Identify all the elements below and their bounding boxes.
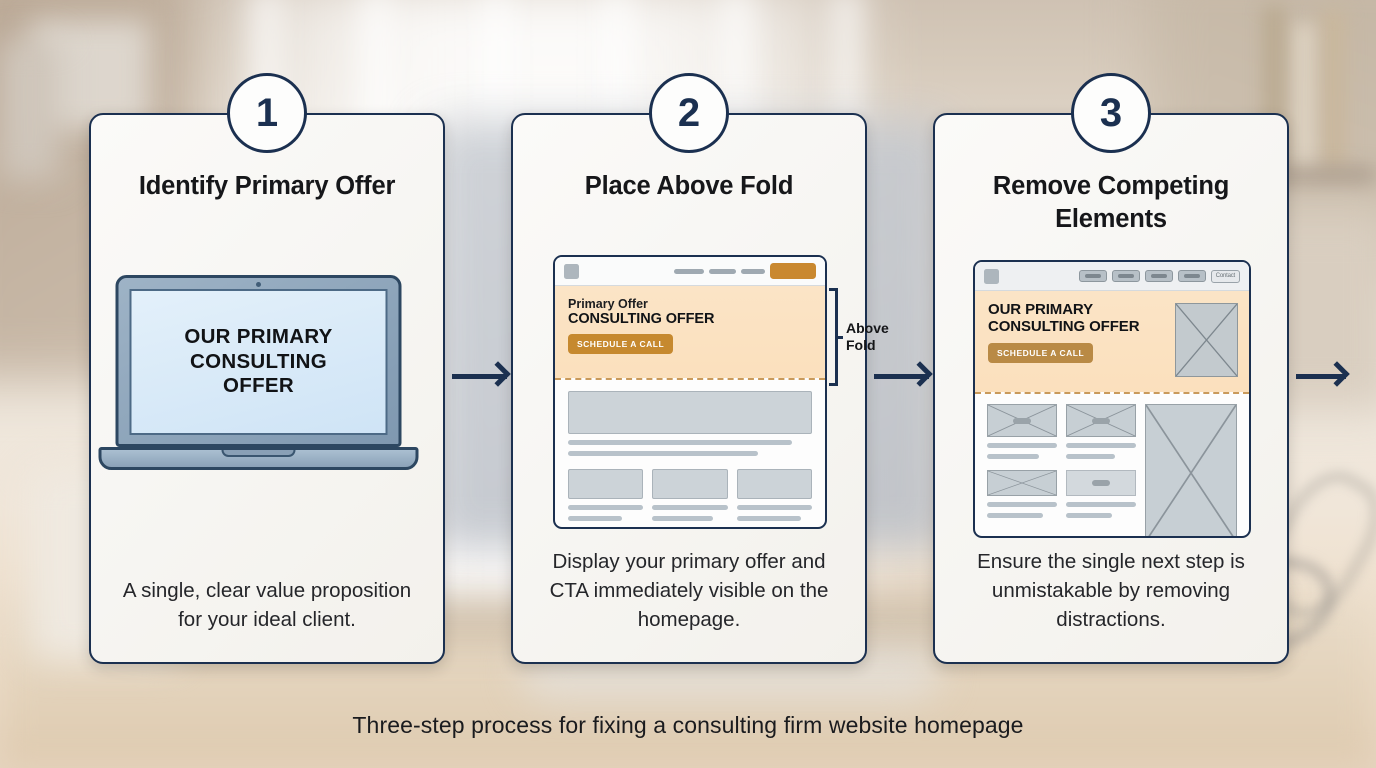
text-line bbox=[1066, 454, 1115, 459]
arrow-step2-to-step3-icon bbox=[874, 361, 929, 393]
text-line bbox=[652, 516, 712, 521]
hero-cta-button[interactable]: SCHEDULE A CALL bbox=[988, 343, 1093, 363]
step-number-badge-3: 3 bbox=[1071, 73, 1151, 153]
step-description-2: Display your primary offer and CTA immed… bbox=[535, 547, 843, 634]
arrow-step3-onward-icon bbox=[1296, 361, 1346, 393]
text-line bbox=[568, 505, 643, 510]
wireframe-nav-bar bbox=[555, 257, 825, 286]
nav-link-placeholder[interactable] bbox=[1112, 270, 1140, 282]
blog-chip-label bbox=[1092, 480, 1110, 486]
hero-headline: CONSULTING OFFER bbox=[568, 311, 812, 327]
column-block bbox=[737, 469, 812, 499]
distraction-grid bbox=[975, 394, 1249, 538]
three-column-row bbox=[568, 469, 812, 521]
text-line bbox=[987, 502, 1057, 507]
nav-contact-link[interactable]: Contact bbox=[1211, 270, 1240, 283]
wireframe-nav-bar: Contact bbox=[975, 262, 1249, 291]
text-line bbox=[987, 443, 1057, 448]
logo-placeholder-icon bbox=[984, 269, 999, 284]
column-block bbox=[652, 469, 727, 499]
laptop-illustration: OUR PRIMARY CONSULTING OFFER bbox=[116, 275, 419, 470]
content-block bbox=[568, 391, 812, 434]
text-line bbox=[568, 451, 758, 456]
diagram-caption: Three-step process for fixing a consulti… bbox=[0, 712, 1376, 739]
hero-section-above-fold: Primary Offer CONSULTING OFFER SCHEDULE … bbox=[555, 286, 825, 378]
homepage-wireframe-2: Primary Offer CONSULTING OFFER SCHEDULE … bbox=[553, 255, 827, 529]
step-number-badge-1: 1 bbox=[227, 73, 307, 153]
crossed-out-sidebar-block bbox=[1145, 404, 1237, 538]
nav-link-placeholder[interactable] bbox=[1079, 270, 1107, 282]
laptop-notch bbox=[222, 450, 296, 457]
crossed-out-image-icon bbox=[1175, 303, 1238, 377]
nav-cta-button[interactable] bbox=[770, 263, 816, 279]
crossed-out-offer-card bbox=[987, 404, 1057, 437]
text-line bbox=[987, 513, 1043, 518]
hero-cta-button[interactable]: SCHEDULE A CALL bbox=[568, 334, 673, 354]
text-line bbox=[568, 516, 622, 521]
laptop-base bbox=[99, 447, 419, 470]
step-card-3: 3 Remove Competing Elements Contact OUR … bbox=[933, 113, 1289, 664]
step-description-1: A single, clear value proposition for yo… bbox=[113, 576, 421, 634]
webcam-icon bbox=[256, 282, 261, 287]
below-fold-content bbox=[555, 380, 825, 529]
nav-link-placeholder[interactable] bbox=[709, 269, 736, 274]
text-line bbox=[737, 505, 812, 510]
laptop-screen-text: OUR PRIMARY CONSULTING OFFER bbox=[184, 325, 332, 399]
nav-link-placeholder[interactable] bbox=[1178, 270, 1206, 282]
text-line bbox=[1066, 443, 1136, 448]
text-line bbox=[652, 505, 727, 510]
laptop-lid: OUR PRIMARY CONSULTING OFFER bbox=[116, 275, 402, 447]
text-line bbox=[1066, 502, 1136, 507]
offer-chip-label bbox=[1092, 418, 1110, 424]
bracket-tick bbox=[836, 336, 843, 339]
above-fold-label: Above Fold bbox=[846, 320, 889, 354]
column-block bbox=[568, 469, 643, 499]
logo-placeholder-icon bbox=[564, 264, 579, 279]
laptop-screen: OUR PRIMARY CONSULTING OFFER bbox=[130, 289, 388, 435]
step-title-2: Place Above Fold bbox=[531, 170, 847, 203]
text-line bbox=[1066, 513, 1112, 518]
crossed-out-content-card bbox=[987, 470, 1057, 496]
offer-chip-label bbox=[1013, 418, 1031, 424]
step-number-badge-2: 2 bbox=[649, 73, 729, 153]
text-line bbox=[568, 440, 792, 445]
step-card-2: 2 Place Above Fold Primary Offer CONSULT… bbox=[511, 113, 867, 664]
step-card-1: 1 Identify Primary Offer OUR PRIMARY CON… bbox=[89, 113, 445, 664]
blog-card bbox=[1066, 470, 1136, 496]
text-line bbox=[737, 516, 802, 521]
step-title-3: Remove Competing Elements bbox=[953, 170, 1269, 236]
nav-link-placeholder[interactable] bbox=[1145, 270, 1173, 282]
hero-kicker: Primary Offer bbox=[568, 297, 812, 311]
homepage-wireframe-3: Contact OUR PRIMARY CONSULTING OFFER SCH… bbox=[973, 260, 1251, 538]
text-line bbox=[987, 454, 1039, 459]
crossed-out-offer-card bbox=[1066, 404, 1136, 437]
step-title-1: Identify Primary Offer bbox=[109, 170, 425, 203]
arrow-step1-to-step2-icon bbox=[452, 361, 507, 393]
hero-section-above-fold: OUR PRIMARY CONSULTING OFFER SCHEDULE A … bbox=[975, 291, 1249, 392]
nav-link-placeholder[interactable] bbox=[741, 269, 765, 274]
nav-link-placeholder[interactable] bbox=[674, 269, 704, 274]
step-description-3: Ensure the single next step is unmistaka… bbox=[957, 547, 1265, 634]
